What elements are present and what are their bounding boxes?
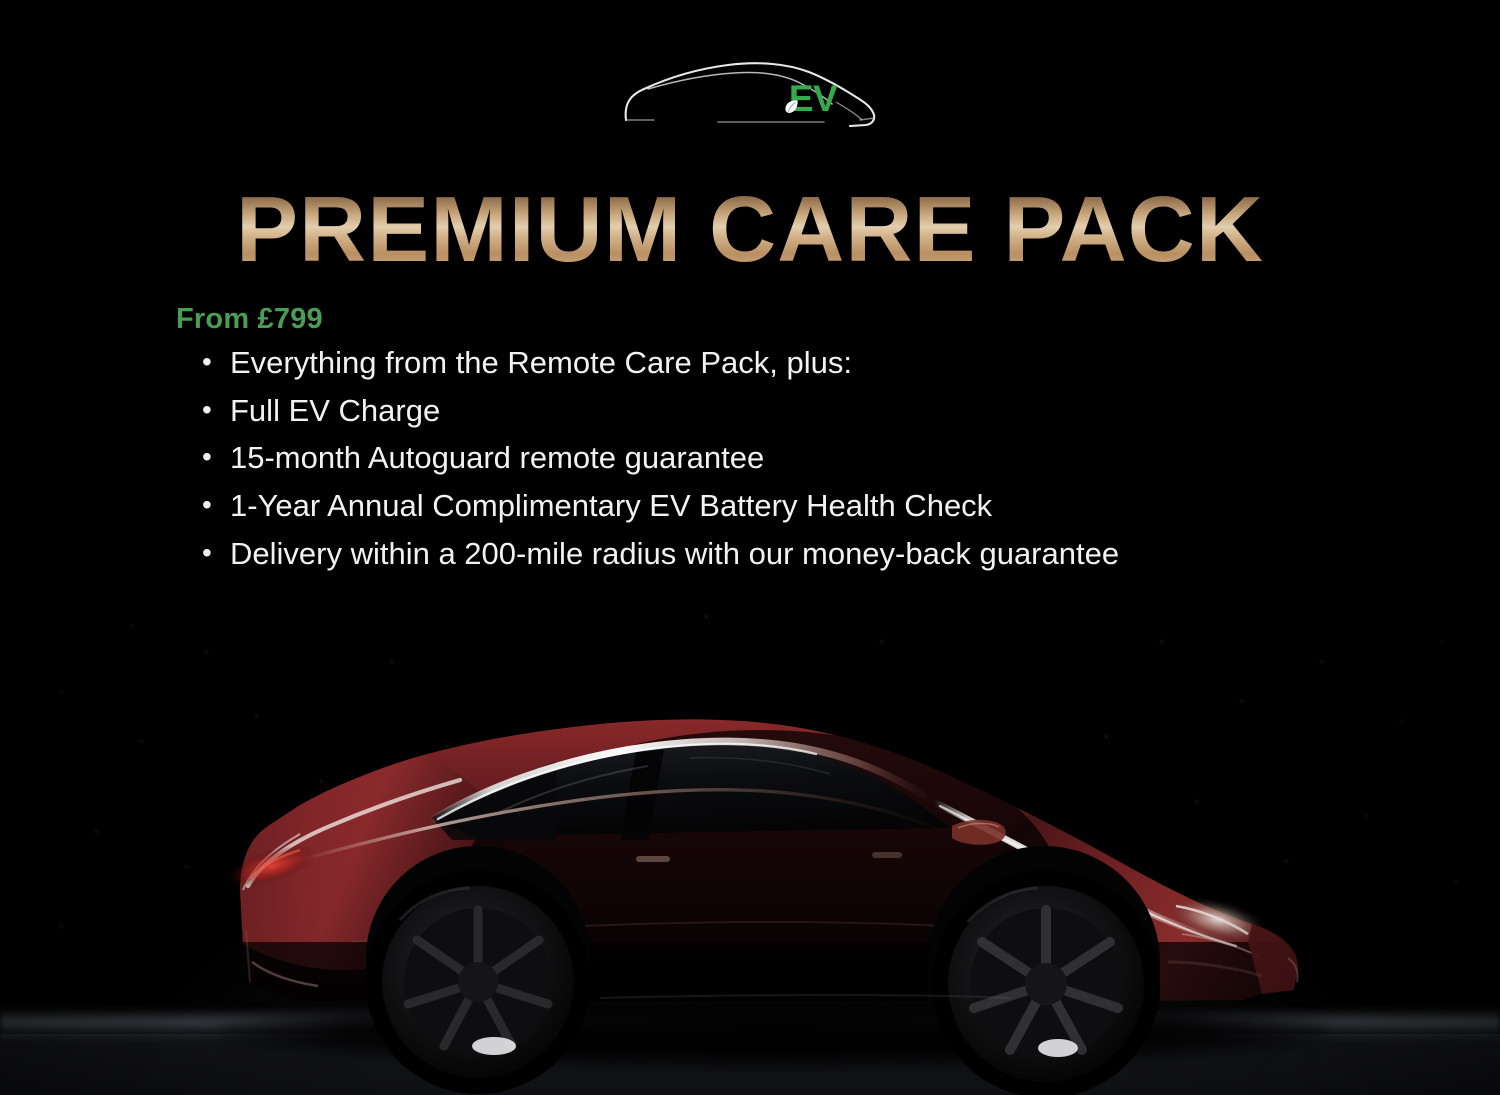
list-item: Full EV Charge bbox=[198, 394, 1119, 429]
list-item: Everything from the Remote Care Pack, pl… bbox=[198, 346, 1119, 381]
brand-wordmark: AnchorEV bbox=[610, 80, 890, 117]
list-item: 15-month Autoguard remote guarantee bbox=[198, 441, 1119, 476]
hero-car-image bbox=[0, 590, 1500, 1095]
feature-list: Everything from the Remote Care Pack, pl… bbox=[198, 346, 1119, 585]
brand-logo[interactable]: AnchorEV bbox=[610, 58, 890, 140]
page-title: PREMIUM CARE PACK bbox=[0, 183, 1500, 276]
promo-poster: AnchorEV PREMIUM CARE PACK From £799 Eve… bbox=[0, 0, 1500, 1095]
rear-wheel bbox=[366, 870, 590, 1094]
car-silhouette-icon bbox=[0, 590, 1500, 1095]
list-item: Delivery within a 200-mile radius with o… bbox=[198, 537, 1119, 572]
price-label: From £799 bbox=[176, 303, 323, 336]
list-item: 1-Year Annual Complimentary EV Battery H… bbox=[198, 489, 1119, 524]
brand-name-primary: Anchor bbox=[663, 78, 789, 119]
leaf-icon bbox=[784, 99, 799, 114]
front-wheel bbox=[932, 870, 1160, 1095]
